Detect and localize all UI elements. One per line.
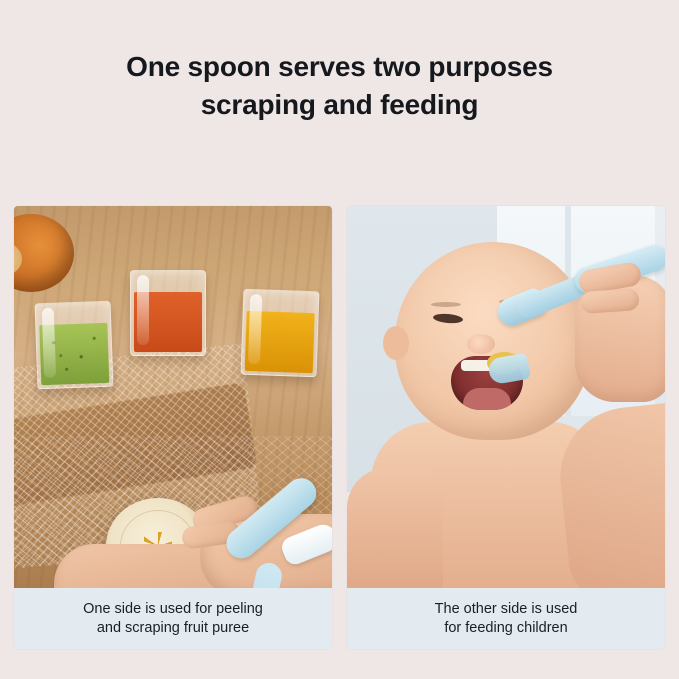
headline-line-2: scraping and feeding [0,86,679,124]
right-caption-line-2: for feeding children [444,619,567,638]
baby-ear [383,326,409,360]
mango-puree-cup [241,289,320,378]
right-panel: The other side is used for feeding child… [347,206,665,649]
feeding-baby-photo [347,206,665,588]
pumpkin-flesh [14,242,22,276]
fruit-puree-scraping-photo [14,206,332,588]
kiwi-puree-cup [35,301,114,390]
baby-eyebrow-left [431,302,461,307]
glass-highlight [248,294,262,364]
product-infographic: One spoon serves two purposes scraping a… [0,0,679,679]
page-title: One spoon serves two purposes scraping a… [0,48,679,124]
glass-highlight [42,308,56,378]
left-caption-line-1: One side is used for peeling [83,600,263,619]
baby-nose [467,334,495,354]
baby-shoulder [347,468,443,588]
right-caption-line-1: The other side is used [435,600,578,619]
right-caption: The other side is used for feeding child… [347,588,665,649]
finger [580,288,639,314]
glass-highlight [137,275,149,345]
carrot-puree-cup [130,270,206,356]
left-caption: One side is used for peeling and scrapin… [14,588,332,649]
headline-line-1: One spoon serves two purposes [0,48,679,86]
left-panel: One side is used for peeling and scrapin… [14,206,332,649]
panel-row: One side is used for peeling and scrapin… [14,206,665,649]
baby-tongue [463,388,511,410]
left-caption-line-2: and scraping fruit puree [97,619,249,638]
